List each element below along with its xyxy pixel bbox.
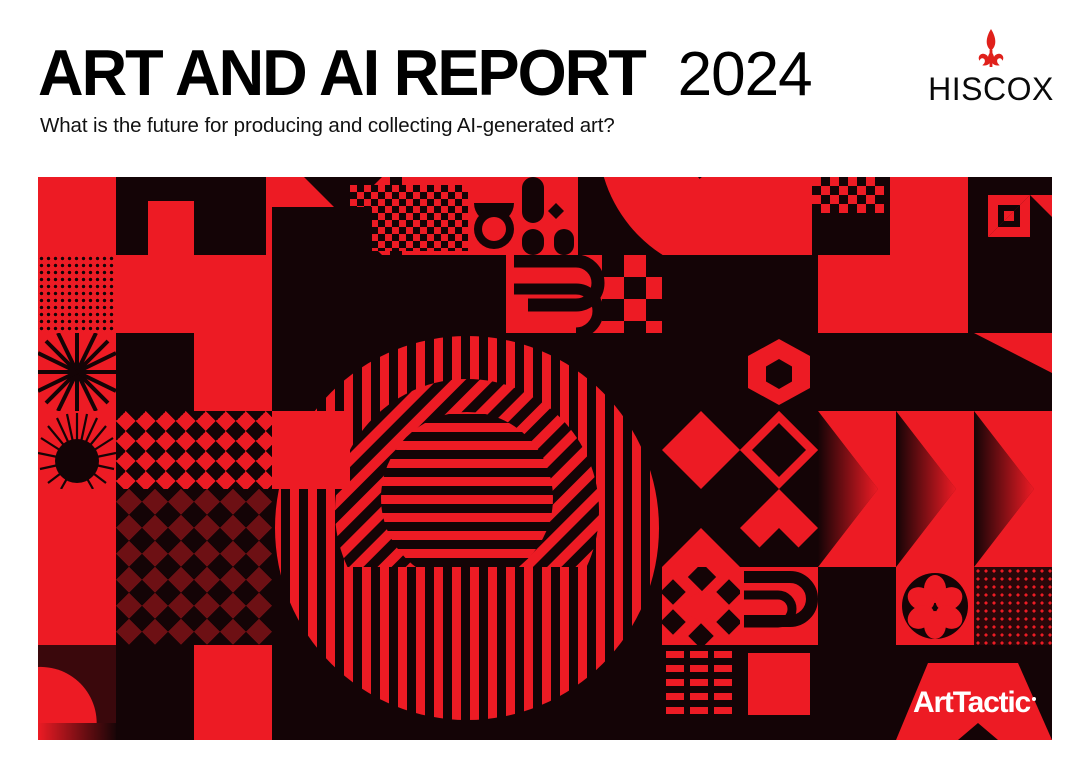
art-tile <box>818 333 896 411</box>
art-tile <box>812 177 890 255</box>
art-tile <box>896 333 974 411</box>
page-title: ART AND AI REPORT 2024 <box>38 40 812 106</box>
art-tile <box>38 567 116 645</box>
art-tile <box>116 177 148 255</box>
arttactic-wordmark: ArtTactic <box>913 686 1036 720</box>
art-tile <box>974 333 1052 411</box>
art-tile-diamond-quad <box>662 411 818 567</box>
art-tile-u-shape <box>740 567 818 645</box>
art-tile <box>194 645 272 740</box>
fleur-de-lis-icon <box>968 27 1014 71</box>
art-tile-hexagon-ring <box>740 333 818 411</box>
art-tile <box>116 255 194 333</box>
art-tile-flower-rosette <box>896 567 974 645</box>
art-tile <box>116 333 194 411</box>
art-tile <box>428 255 506 333</box>
arttactic-dot-icon <box>1032 697 1036 701</box>
art-tile-radial-burst <box>38 411 116 489</box>
art-tile-bar-grid <box>662 645 740 723</box>
art-tile <box>468 177 578 255</box>
art-tile-triangle-tessellation <box>968 177 1052 255</box>
art-tile <box>194 255 272 333</box>
art-tile <box>38 177 116 255</box>
art-tile <box>896 255 974 333</box>
report-cover-page: ART AND AI REPORT 2024 What is the futur… <box>0 0 1089 767</box>
art-tile <box>974 255 1052 333</box>
title-year: 2024 <box>678 44 812 106</box>
art-tile-quarter-circle <box>578 177 812 255</box>
art-tile <box>748 653 810 715</box>
art-tile <box>226 177 266 255</box>
art-tile-diamond-lattice-dark <box>116 489 272 567</box>
title-main: ART AND AI REPORT <box>38 40 645 105</box>
art-tile <box>818 567 896 645</box>
art-tile <box>740 255 818 333</box>
art-tile-chevrons <box>818 411 1052 567</box>
art-tile <box>38 489 116 567</box>
art-tile-s-shape <box>506 255 662 333</box>
art-tile-halftone-dark <box>974 567 1052 645</box>
art-tile-hex-diamond-cluster <box>662 567 740 645</box>
art-tile <box>662 255 740 333</box>
art-tile-diamond-lattice-dark <box>116 567 272 645</box>
hiscox-logo: HISCOX <box>926 27 1056 109</box>
art-tile <box>194 333 272 411</box>
art-tile <box>662 333 740 411</box>
art-tile-starburst <box>38 333 116 411</box>
page-subtitle: What is the future for producing and col… <box>40 114 615 138</box>
art-tile <box>272 411 350 489</box>
cover-artwork: ArtTactic <box>38 177 1052 740</box>
arttactic-text: ArtTactic <box>913 686 1030 719</box>
art-tile <box>968 255 982 333</box>
art-tile <box>272 207 372 257</box>
art-tile <box>116 645 194 740</box>
art-tile <box>208 177 226 255</box>
art-tile <box>272 255 350 333</box>
art-tile-halftone <box>38 255 116 333</box>
cover-header: ART AND AI REPORT 2024 What is the futur… <box>0 0 1089 177</box>
art-tile <box>818 255 896 333</box>
art-tile-circle-lower <box>272 567 662 740</box>
art-tile-diamond-lattice <box>116 411 272 489</box>
art-tile <box>38 723 116 740</box>
art-tile <box>350 255 428 333</box>
hiscox-wordmark: HISCOX <box>926 71 1056 108</box>
